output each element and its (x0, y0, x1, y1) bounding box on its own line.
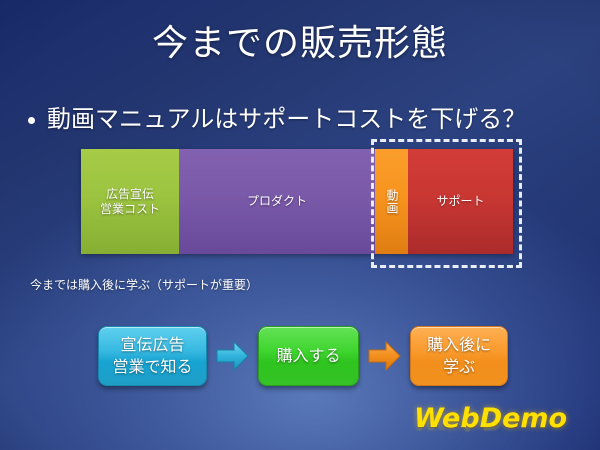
flow-step-learn-after-purchase: 購入後に 学ぶ (410, 326, 508, 386)
bullet-text: 動画マニュアルはサポートコストを下げる？ (47, 103, 526, 135)
bullet-line: 動画マニュアルはサポートコストを下げる？ (28, 103, 580, 135)
arrow-right-orange-icon (368, 339, 401, 373)
flow-step-awareness: 宣伝広告 営業で知る (98, 326, 207, 386)
bar-segment-advertising-line1: 広告宣伝 (106, 187, 154, 201)
flow-step-purchase: 購入する (258, 326, 359, 386)
bar-segment-product-label: プロダクト (247, 194, 307, 209)
logo-reflection: WebDemo (414, 412, 564, 434)
bar-segment-product: プロダクト (179, 149, 375, 254)
logo: WebDemo WebDemo (414, 404, 564, 448)
flow-step-learn-line2: 学ぶ (443, 357, 475, 376)
flow-step-learn-line1: 購入後に (427, 335, 491, 354)
arrow-right-cyan-icon (216, 339, 249, 373)
flow-step-awareness-label: 宣伝広告 営業で知る (112, 334, 192, 378)
highlight-dashed-box (371, 139, 522, 268)
bar-caption: 今までは購入後に学ぶ（サポートが重要） (30, 277, 258, 293)
bullet-dot-icon (28, 117, 35, 124)
flow-step-awareness-line2: 営業で知る (112, 357, 192, 376)
flow-step-awareness-line1: 宣伝広告 (120, 335, 184, 354)
slide-canvas: 今までの販売形態 動画マニュアルはサポートコストを下げる？ 広告宣伝 営業コスト… (0, 0, 600, 450)
page-title: 今までの販売形態 (0, 22, 600, 66)
bar-segment-advertising: 広告宣伝 営業コスト (81, 149, 179, 254)
flow-step-purchase-label: 購入する (277, 345, 341, 367)
bar-segment-advertising-label: 広告宣伝 営業コスト (100, 187, 160, 217)
flow-step-learn-after-purchase-label: 購入後に 学ぶ (427, 334, 491, 378)
flow-diagram: 宣伝広告 営業で知る 購入する (98, 324, 508, 388)
bar-segment-advertising-line2: 営業コスト (100, 202, 160, 216)
